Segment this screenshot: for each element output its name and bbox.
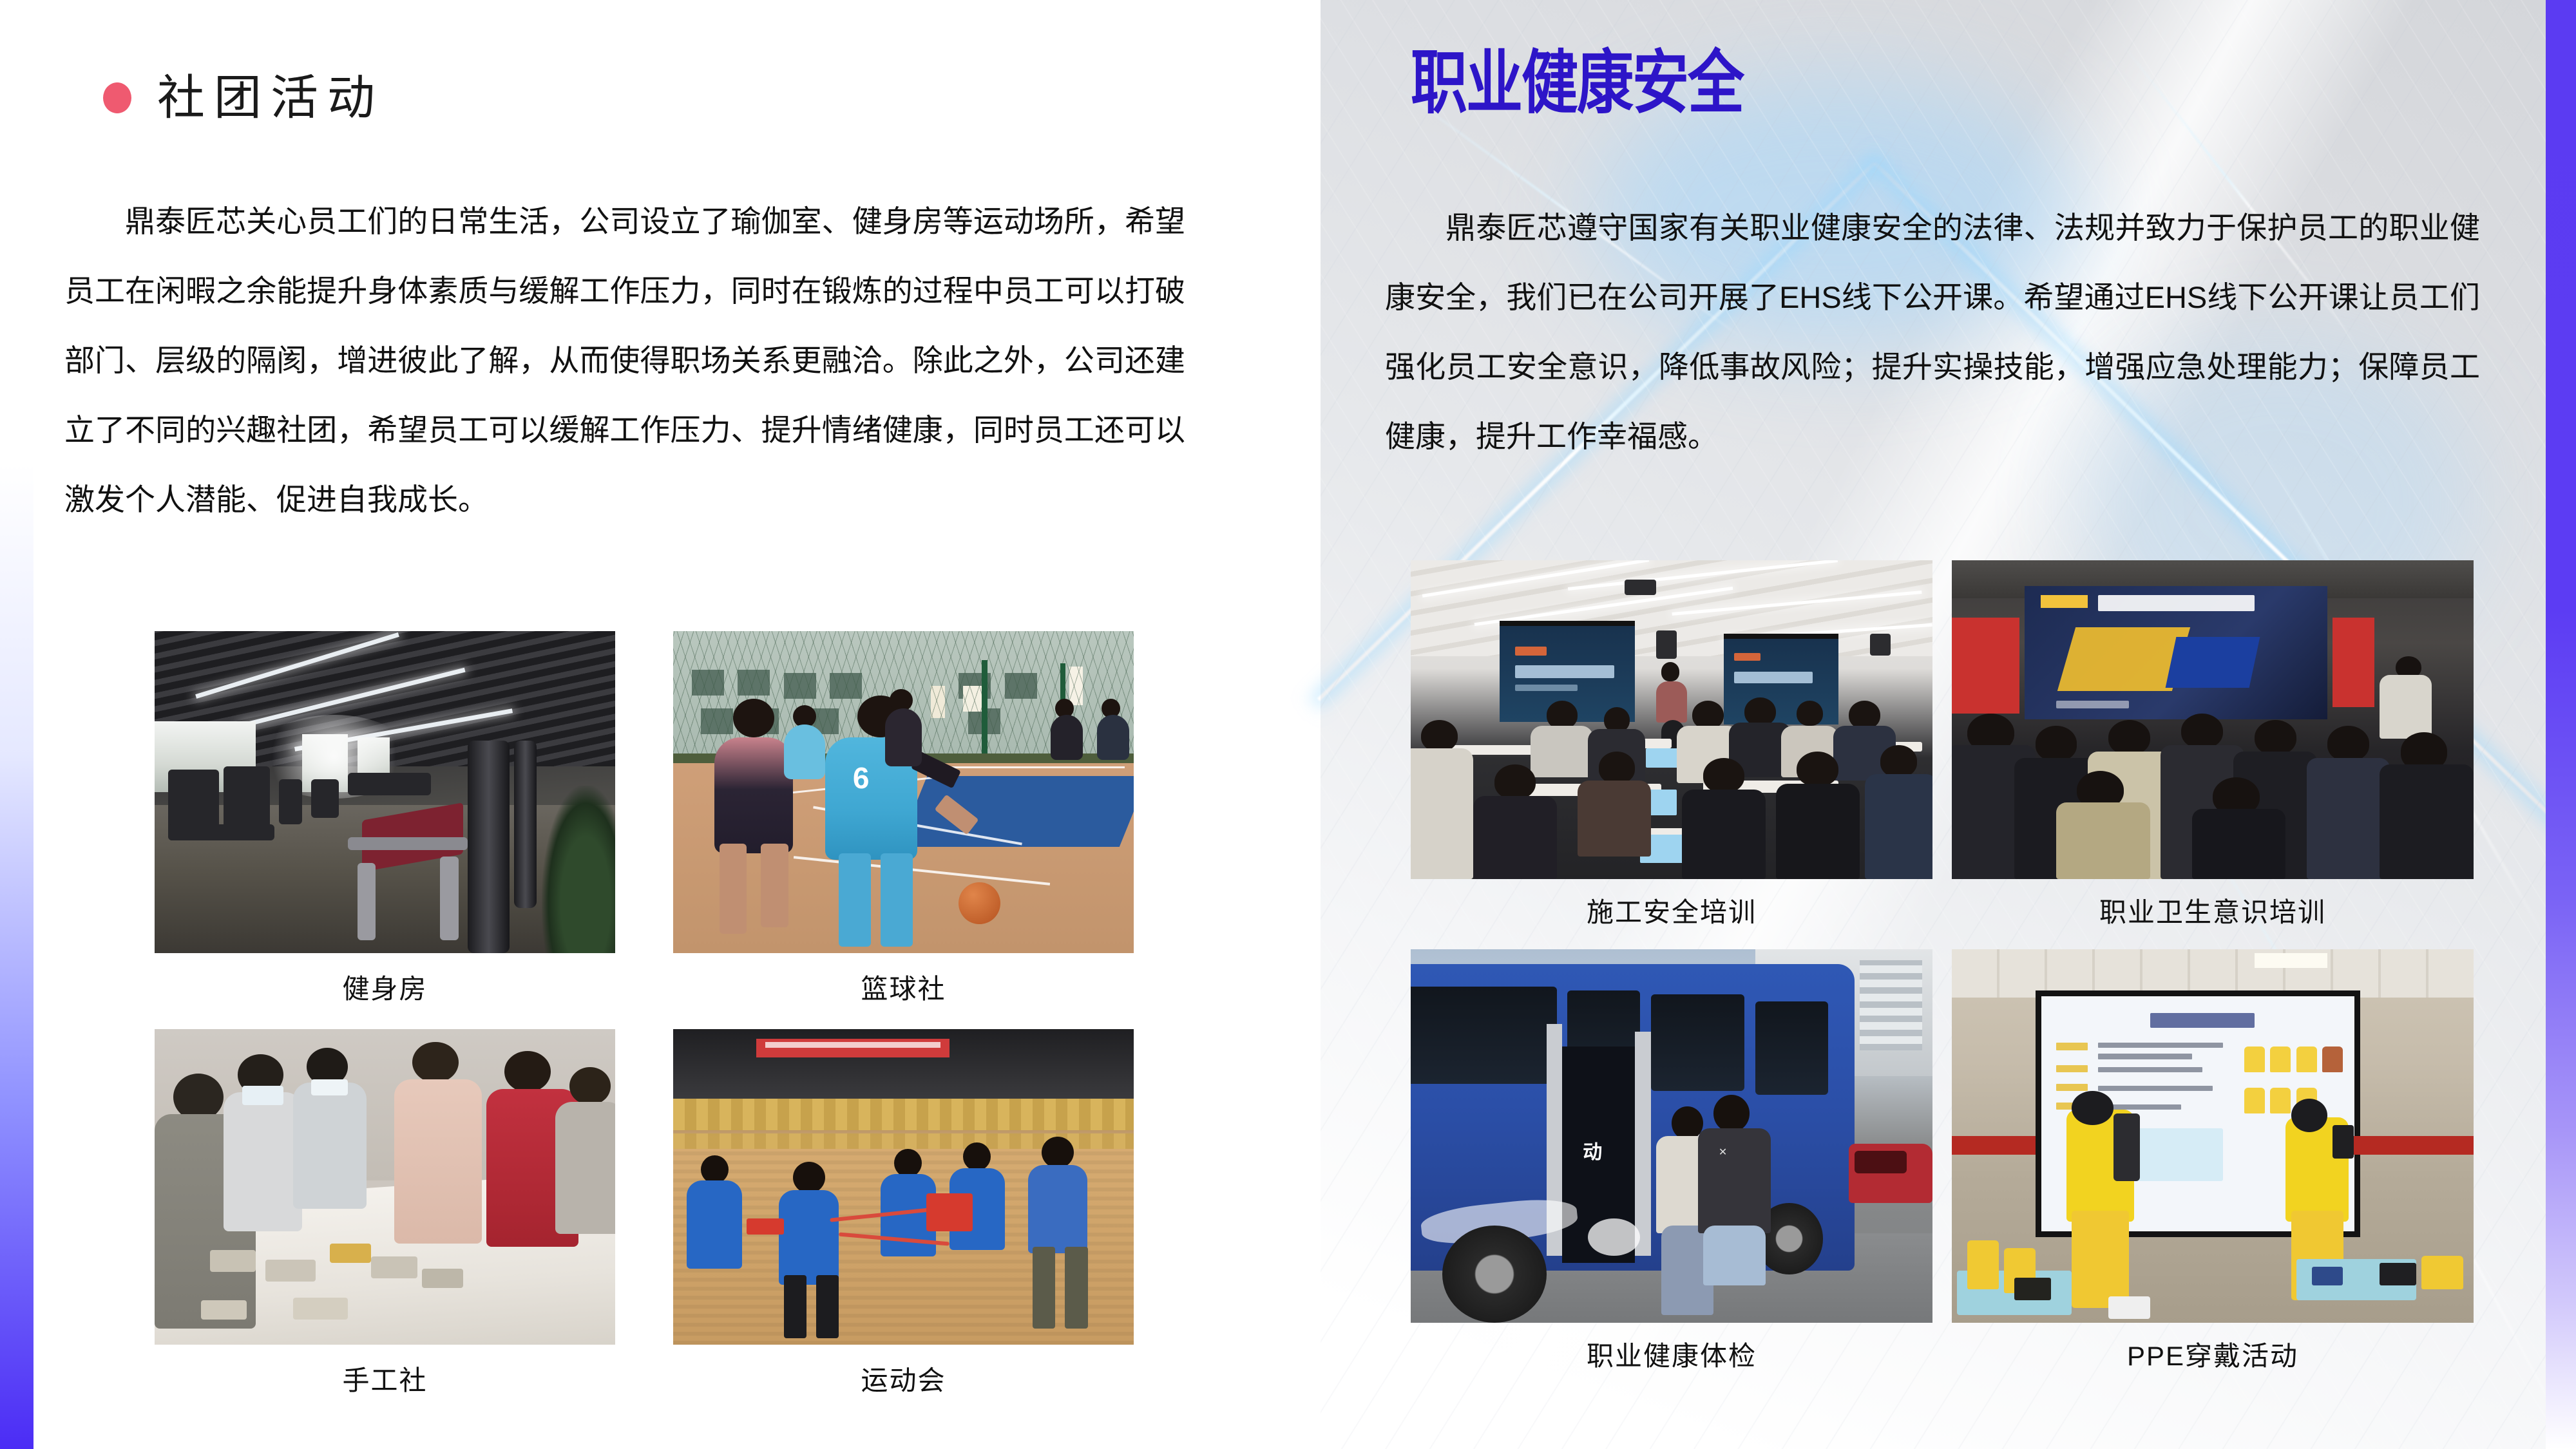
section-heading-ohs: 职业健康安全 [1411, 48, 1743, 117]
bullet-dot-icon [103, 82, 131, 113]
photo-caption: 施工安全培训 [1587, 891, 1757, 930]
photo-card-construction-training: 施工安全培训 [1411, 560, 1932, 930]
photo-handcraft-club [155, 1029, 615, 1345]
photo-ppe-wearing-activity [1952, 949, 2474, 1323]
photo-sports-meet [673, 1029, 1134, 1345]
photo-card-handcraft: 手工社 [155, 1029, 615, 1398]
photo-caption: 健身房 [342, 967, 427, 1007]
photo-caption: 职业卫生意识培训 [2099, 891, 2326, 930]
photo-caption: 运动会 [861, 1359, 946, 1398]
left-heading-text: 社团活动 [157, 74, 384, 122]
photo-card-health-bus: 动 流 检 ✕ 职业 [1411, 949, 1932, 1374]
photo-card-basketball: 6 篮球社 [673, 631, 1134, 1007]
ohs-photo-grid: 施工安全培训 [1411, 560, 2474, 1374]
clubs-photo-grid: 健身房 [155, 631, 1134, 1398]
slide-page: 社团活动 鼎泰匠芯关心员工们的日常生活，公司设立了瑜伽室、健身房等运动场所，希望… [0, 0, 2576, 1449]
left-column: 社团活动 鼎泰匠芯关心员工们的日常生活，公司设立了瑜伽室、健身房等运动场所，希望… [0, 0, 1321, 1449]
photo-card-gym: 健身房 [155, 631, 615, 1007]
photo-basketball-game: 6 [673, 631, 1134, 953]
left-edge-gradient [0, 0, 33, 1449]
photo-occupational-hygiene-training [1952, 560, 2474, 879]
right-paragraph: 鼎泰匠芯遵守国家有关职业健康安全的法律、法规并致力于保护员工的职业健康安全，我们… [1385, 193, 2480, 471]
photo-construction-safety-training [1411, 560, 1932, 879]
right-edge-gradient [2546, 0, 2576, 1449]
photo-gym-interior [155, 631, 615, 953]
right-column: 职业健康安全 鼎泰匠芯遵守国家有关职业健康安全的法律、法规并致力于保护员工的职业… [1321, 0, 2576, 1449]
section-heading-clubs: 社团活动 [103, 74, 384, 122]
photo-caption: PPE穿戴活动 [2127, 1334, 2298, 1374]
photo-caption: 职业健康体检 [1587, 1334, 1757, 1374]
photo-card-ppe: PPE穿戴活动 [1952, 949, 2474, 1374]
photo-card-sports-meet: 运动会 [673, 1029, 1134, 1398]
photo-card-hygiene-training: 职业卫生意识培训 [1952, 560, 2474, 930]
photo-caption: 篮球社 [861, 967, 946, 1007]
photo-health-checkup-bus: 动 流 检 ✕ [1411, 949, 1932, 1323]
photo-caption: 手工社 [342, 1359, 427, 1398]
left-paragraph: 鼎泰匠芯关心员工们的日常生活，公司设立了瑜伽室、健身房等运动场所，希望员工在闲暇… [64, 187, 1185, 535]
